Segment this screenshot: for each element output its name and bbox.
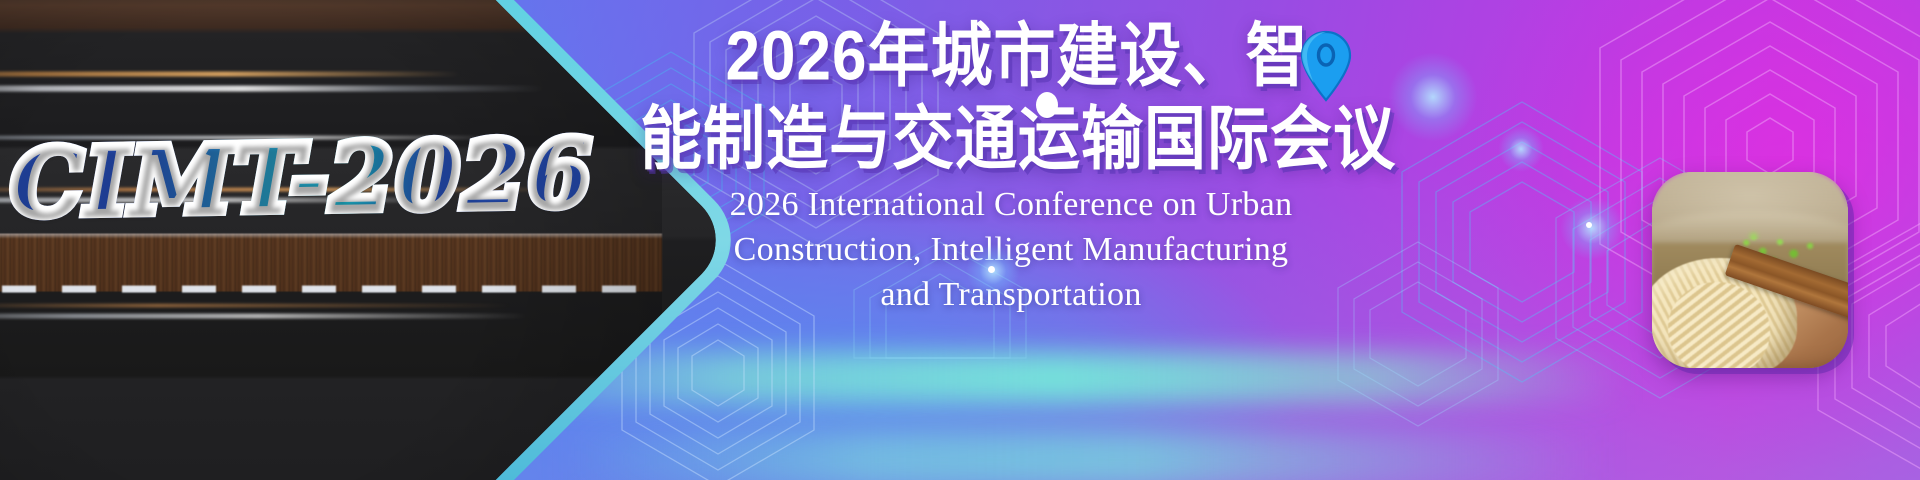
sparkle-dot-3 (1586, 222, 1592, 228)
sparkle-glow-1 (1388, 52, 1478, 142)
title-chinese-line-2: 能制造与交通运输国际会议 (640, 103, 1380, 178)
sparkle-glow-4 (1498, 126, 1544, 172)
title-block: 2026年城市建设、智 能制造与交通运输国际会议 (640, 20, 1380, 170)
cimt-logo-text: CIMT-2026 (9, 119, 594, 237)
sparkle-dot-2 (988, 266, 995, 273)
subtitle-line-1: 2026 International Conference on Urban (646, 182, 1376, 227)
photo-depth-blur (1652, 172, 1848, 239)
conference-banner: CIMT-2026 2026年城市建设、智 能制造与交通运输国际会议 2026 … (0, 0, 1920, 480)
subtitle-block: 2026 International Conference on Urban C… (646, 182, 1376, 318)
title-chinese-line-1: 2026年城市建设、智 (654, 20, 1380, 95)
sparkle-glow-3 (1560, 196, 1624, 260)
ramen-photo (1652, 172, 1848, 368)
cimt-logo: CIMT-2026 (21, 113, 583, 243)
location-pin-icon (1298, 30, 1354, 102)
sparkle-dot-1 (1036, 92, 1058, 118)
ramen-photo-image (1652, 172, 1848, 368)
